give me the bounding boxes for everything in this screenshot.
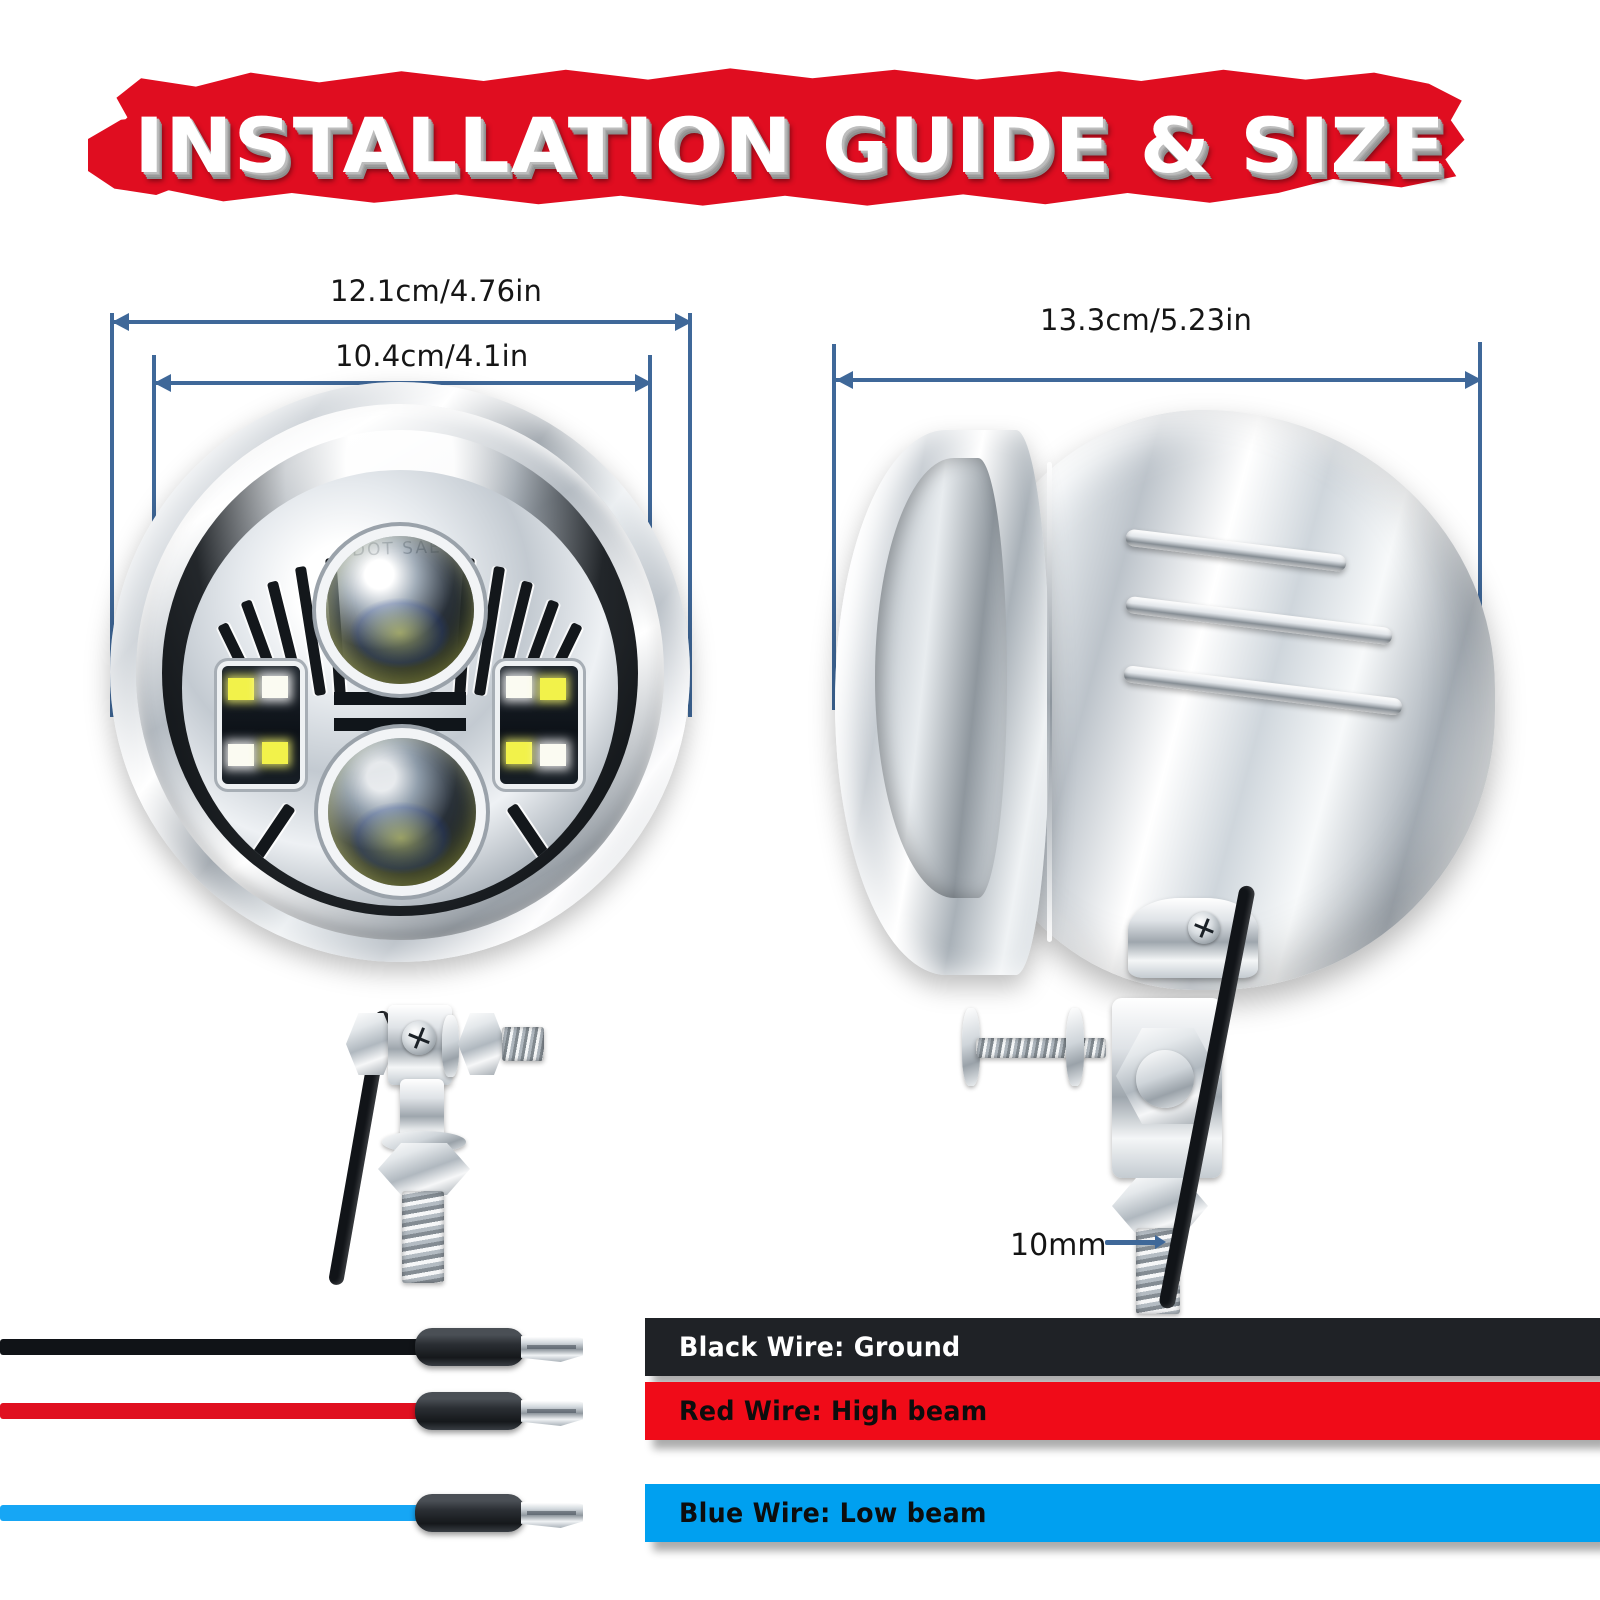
legend-bar-red: Red Wire: High beam (645, 1382, 1600, 1440)
bracket-hex-nut-right (458, 1013, 506, 1075)
black-wire-connector (521, 1332, 583, 1362)
red-wire-boot (415, 1392, 525, 1430)
front-outer-dim-line (110, 320, 692, 324)
front-mount-bracket (330, 995, 560, 1285)
adjust-bolt-thread (976, 1038, 1106, 1058)
legend-label-red: Red Wire: High beam (679, 1396, 987, 1427)
blue-wire-boot (415, 1494, 525, 1532)
led-chip (540, 744, 566, 766)
red-wire-lead (0, 1403, 420, 1419)
bracket-adjust-thread (502, 1027, 544, 1061)
black-wire-boot (415, 1328, 525, 1366)
bracket-phillips-screw (402, 1021, 436, 1055)
reflector-dish: DOT SAE (182, 470, 618, 906)
reflector-wedge (244, 803, 295, 871)
legend-label-blue: Blue Wire: Low beam (679, 1498, 987, 1529)
side-mount-bracket (900, 880, 1320, 1300)
side-depth-dimension-label: 13.3cm/5.23in (1040, 303, 1252, 337)
blue-wire-lead (0, 1505, 420, 1521)
led-chip (228, 678, 254, 700)
bolt-size-arrow (1105, 1240, 1157, 1245)
clamp-center-cap (1136, 1050, 1194, 1108)
front-outer-dimension-label: 12.1cm/4.76in (330, 274, 542, 308)
led-chip-array-right (500, 666, 578, 784)
bracket-washer (442, 1015, 459, 1077)
adjust-washer-right (1066, 1008, 1084, 1086)
stem-hex-nut (378, 1143, 470, 1195)
side-arrow-left (836, 371, 853, 389)
led-chip (262, 742, 288, 764)
title-banner: INSTALLATION GUIDE & SIZE (70, 55, 1510, 235)
page-title: INSTALLATION GUIDE & SIZE (27, 55, 1553, 235)
front-inner-dimension-label: 10.4cm/4.1in (335, 339, 529, 373)
legend-label-black: Black Wire: Ground (679, 1332, 961, 1363)
headlight-front-view: DOT SAE (110, 382, 690, 962)
side-arrow-right (1465, 371, 1482, 389)
led-chip (506, 742, 532, 764)
front-outer-arrow-left (112, 313, 129, 331)
front-outer-arrow-right (675, 313, 692, 331)
center-divider-bar (334, 692, 466, 705)
center-divider-bar (334, 718, 466, 731)
bracket-tab-screw (1188, 912, 1220, 944)
led-chip (228, 744, 254, 766)
led-chip (262, 676, 288, 698)
legend-bar-black: Black Wire: Ground (645, 1318, 1600, 1376)
blue-wire-connector (521, 1498, 583, 1528)
reflector-wedge (506, 803, 557, 871)
led-chip (540, 678, 566, 700)
mounting-bolt-thread (402, 1191, 444, 1283)
led-chip (506, 676, 532, 698)
projector-glint (350, 802, 452, 874)
side-dim-line (834, 378, 1482, 382)
projector-glint (350, 598, 450, 668)
red-wire-connector (521, 1396, 583, 1426)
legend-bar-blue: Blue Wire: Low beam (645, 1484, 1600, 1542)
led-chip-array-left (222, 666, 300, 784)
housing-seam (1047, 462, 1052, 942)
black-wire-lead (0, 1339, 420, 1355)
bolt-size-label: 10mm (1010, 1228, 1107, 1263)
